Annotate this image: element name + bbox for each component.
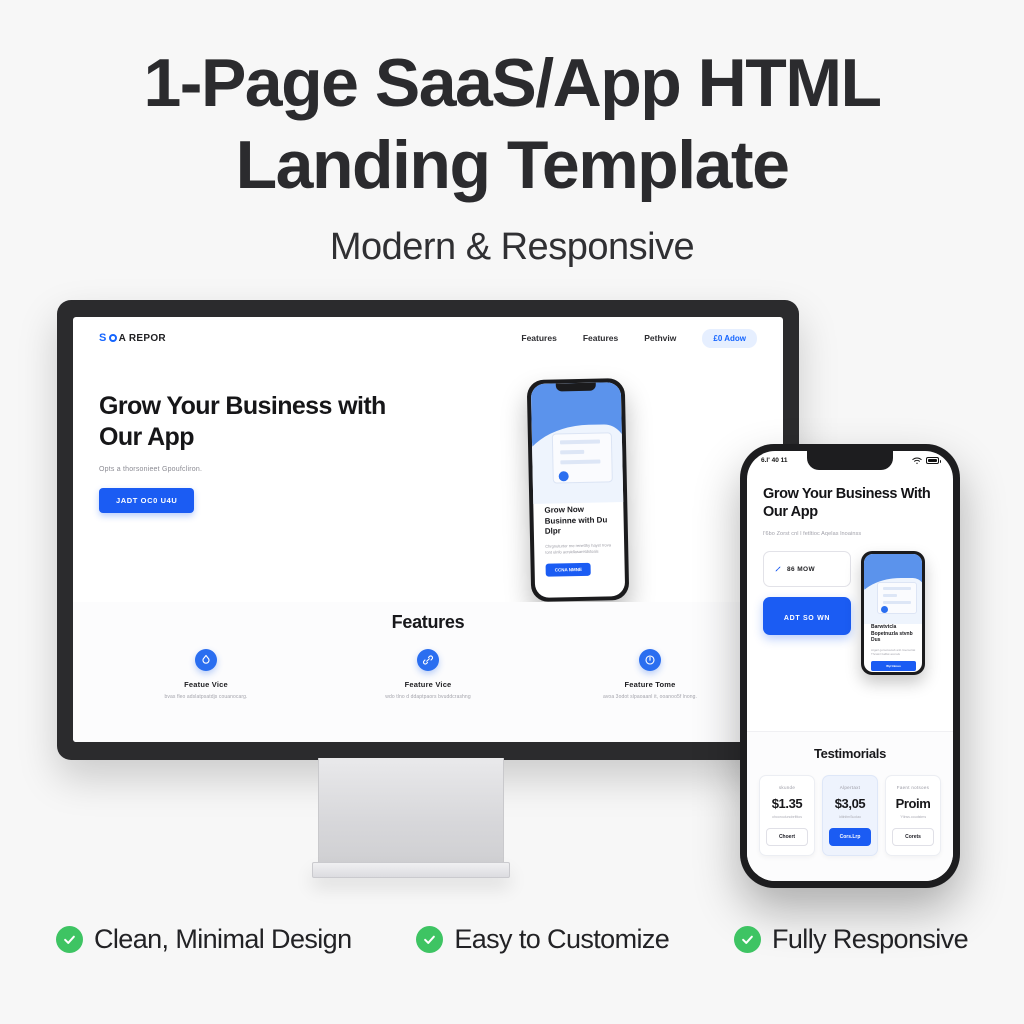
page-title-line-1: 1-Page SaaS/App HTML <box>62 42 962 124</box>
nested-phone-copy: Barwtvtcla Bopetnuzla stvnb Dus Atgarl g… <box>871 624 916 671</box>
pricing-card[interactable]: Faent notsoes Proim 'Yllnss.ooudstms Cor… <box>885 775 941 856</box>
pricing-card-featured[interactable]: Alpertaxt $3,05 ldtlnltmSuolao Cors.Lrp <box>822 775 878 856</box>
pricing-card-price: Proim <box>892 796 934 811</box>
testimonials-heading: Testimorials <box>747 746 953 761</box>
feature-title: Feature Vice <box>317 680 539 689</box>
spark-icon <box>774 560 782 578</box>
page-title: 1-Page SaaS/App HTML Landing Template <box>62 42 962 206</box>
site-navbar: S A REPOR Features Features Pethviw £0 A… <box>73 317 783 359</box>
phone-cta-buttons: 86 MOW ADT SO WN <box>763 551 851 675</box>
battery-icon <box>926 457 939 464</box>
features-section: Features Featue Vice bvas fleo adslatpsa… <box>73 602 783 742</box>
phone-hero-section: Grow Your Business With Our App l'6bo Zo… <box>747 470 953 675</box>
logo-text: A REPOR <box>119 333 166 344</box>
power-icon <box>639 649 661 671</box>
pricing-card-price: $3,05 <box>829 796 871 811</box>
hero-copy: Grow Your Business with Our App Opts a t… <box>99 377 399 601</box>
feature-badge-label: Easy to Customize <box>454 924 669 955</box>
feature-item[interactable]: Feature Tome avoa 3odot slpaoaanl it, oo… <box>539 649 761 700</box>
wifi-icon <box>912 457 922 465</box>
page-title-line-2: Landing Template <box>62 124 962 206</box>
illustration-bar <box>560 450 584 455</box>
phone-notch <box>556 383 596 392</box>
pricing-card-note: ldtlnltmSuolao <box>829 815 871 819</box>
phone-primary-button[interactable]: ADT SO WN <box>763 597 851 635</box>
testimonials-section: Testimorials skunde $1.35 ohooroulunobrf… <box>747 731 953 881</box>
phone-secondary-button[interactable]: 86 MOW <box>763 551 851 587</box>
hero-cta-button[interactable]: JADT OC0 U4U <box>99 488 194 513</box>
phone-mockup: 6.l' 40 11 Grow Your Business With Our A… <box>740 444 960 888</box>
pricing-card-button[interactable]: Corets <box>892 828 934 846</box>
logo-s-icon: S <box>99 332 107 344</box>
hero-phone-mockup-wrap: Grow Now Businne with Du Dlpr Chrgnuturt… <box>399 377 757 601</box>
feature-description: wdo tlno d ddaptpaors bvuddcrashng <box>317 694 539 700</box>
navbar-cta-button[interactable]: £0 Adow <box>702 329 757 348</box>
poster-canvas: 1-Page SaaS/App HTML Landing Template Mo… <box>0 0 1024 1024</box>
status-bar-time: 6.l' 40 11 <box>761 457 788 464</box>
feature-badge-label: Fully Responsive <box>772 924 968 955</box>
check-circle-icon <box>734 926 761 953</box>
features-heading: Features <box>73 612 783 633</box>
phone-cta-row: 86 MOW ADT SO WN <box>763 551 937 675</box>
nav-link-3[interactable]: Pethviw <box>644 333 676 343</box>
nested-phone-screen: Barwtvtcla Bopetnuzla stvnb Dus Atgarl g… <box>864 554 922 672</box>
illustration-bar <box>883 594 897 597</box>
hero-heading: Grow Your Business with Our App <box>99 391 399 453</box>
pricing-card-tag: Faent notsoes <box>892 785 934 790</box>
nav-link-2[interactable]: Features <box>583 333 618 343</box>
feature-item[interactable]: Featue Vice bvas fleo adslatpsatdjs coua… <box>95 649 317 700</box>
feature-badge: Easy to Customize <box>416 924 669 955</box>
phone-hero-button[interactable]: CCNA NMNE <box>546 562 592 576</box>
promo-header: 1-Page SaaS/App HTML Landing Template Mo… <box>0 42 1024 269</box>
pricing-card-price: $1.35 <box>766 796 808 811</box>
phone-hero-copy: Grow Now Businne with Du Dlpr Chrgnuturt… <box>544 504 614 576</box>
monitor-stand-neck <box>318 758 504 866</box>
check-circle-icon <box>56 926 83 953</box>
illustration-bar <box>560 440 600 445</box>
illustration-bar <box>560 460 600 465</box>
feature-description: bvas fleo adslatpsatdjs couanocarg. <box>95 694 317 700</box>
pricing-card-tag: Alpertaxt <box>829 785 871 790</box>
pricing-card-button[interactable]: Choert <box>766 828 808 846</box>
site-logo[interactable]: S A REPOR <box>99 332 166 344</box>
feature-badge: Fully Responsive <box>734 924 968 955</box>
pricing-card-tag: skunde <box>766 785 808 790</box>
feature-item[interactable]: Feature Vice wdo tlno d ddaptpaors bvudd… <box>317 649 539 700</box>
nav-link-1[interactable]: Features <box>521 333 556 343</box>
feature-title: Featue Vice <box>95 680 317 689</box>
page-subtitle: Modern & Responsive <box>0 226 1024 269</box>
phone-secondary-button-label: 86 MOW <box>787 566 815 573</box>
monitor-screen: S A REPOR Features Features Pethviw £0 A… <box>73 317 783 742</box>
nested-phone-mockup: Barwtvtcla Bopetnuzla stvnb Dus Atgarl g… <box>861 551 925 675</box>
pricing-card-note: 'Yllnss.ooudstms <box>892 815 934 819</box>
hero-phone-mockup: Grow Now Businne with Du Dlpr Chrgnuturt… <box>527 378 630 602</box>
nested-badge-icon <box>881 606 888 613</box>
nested-phone-button[interactable]: Wyrtnlouo <box>871 661 916 671</box>
illustration-bar <box>883 601 911 604</box>
nested-phone-heading: Barwtvtcla Bopetnuzla stvnb Dus <box>871 624 916 644</box>
logo-circle-icon <box>109 334 117 342</box>
check-circle-icon <box>416 926 443 953</box>
phone-primary-button-label: ADT SO WN <box>784 615 830 622</box>
monitor-stand-base <box>312 862 510 878</box>
hero-section: Grow Your Business with Our App Opts a t… <box>73 359 783 601</box>
status-bar-indicators <box>912 457 939 465</box>
feature-description: avoa 3odot slpaoaanl it, ooanoo5f lnong. <box>539 694 761 700</box>
phone-status-bar: 6.l' 40 11 <box>747 451 953 470</box>
phone-hero-paragraph: Chrgnuturtor rne renetthy hayst rrova to… <box>545 542 614 555</box>
phone-hero-heading: Grow Now Businne with Du Dlpr <box>544 504 614 537</box>
hero-paragraph: Opts a thorsonieet Gpoufcliron. <box>99 466 399 473</box>
pricing-card[interactable]: skunde $1.35 ohooroulunobrfittos Choert <box>759 775 815 856</box>
illustration-bar <box>883 587 911 590</box>
hero-phone-screen: Grow Now Businne with Du Dlpr Chrgnuturt… <box>531 382 625 598</box>
link-icon <box>417 649 439 671</box>
features-row: Featue Vice bvas fleo adslatpsatdjs coua… <box>73 649 783 700</box>
feature-badge-label: Clean, Minimal Design <box>94 924 352 955</box>
nested-phone-paragraph: Atgarl gorsotoutab anb ltoersoltat Thcat… <box>871 648 916 656</box>
feature-badge: Clean, Minimal Design <box>56 924 352 955</box>
navbar-links: Features Features Pethviw £0 Adow <box>521 329 757 348</box>
pricing-cards-row: skunde $1.35 ohooroulunobrfittos Choert … <box>747 761 953 856</box>
pricing-card-note: ohooroulunobrfittos <box>766 815 808 819</box>
feature-title: Feature Tome <box>539 680 761 689</box>
droplet-icon <box>195 649 217 671</box>
feature-badges: Clean, Minimal Design Easy to Customize … <box>0 924 1024 955</box>
phone-hero-paragraph: l'6bo Zorst cnl l fetltioc Aqelas lnoain… <box>763 531 937 537</box>
phone-screen: 6.l' 40 11 Grow Your Business With Our A… <box>747 451 953 881</box>
desktop-monitor-mockup: S A REPOR Features Features Pethviw £0 A… <box>57 300 799 760</box>
pricing-card-button[interactable]: Cors.Lrp <box>829 828 871 846</box>
phone-hero-heading: Grow Your Business With Our App <box>763 486 937 521</box>
